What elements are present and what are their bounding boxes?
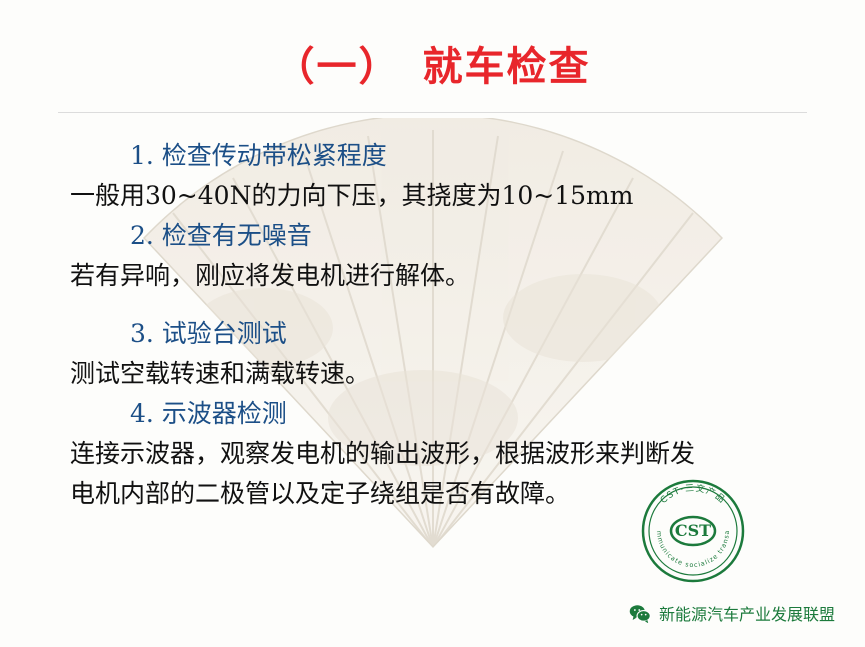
list-item-heading-3: 3. 试验台测试 <box>130 314 819 354</box>
slide-body: 1. 检查传动带松紧程度 一般用30~40N的力向下压，其挠度为10~15mm … <box>70 136 819 514</box>
list-item-text-2: 若有异响，刚应将发电机进行解体。 <box>70 256 819 296</box>
list-item-heading-1: 1. 检查传动带松紧程度 <box>130 136 819 176</box>
list-item-text-3: 测试空载转速和满载转速。 <box>70 354 819 394</box>
footer-label: 新能源汽车产业发展联盟 <box>659 601 835 625</box>
cst-logo: CST·三交产品 communicate socialize transact … <box>639 477 747 585</box>
list-item-heading-2: 2. 检查有无噪音 <box>130 216 819 256</box>
footer-account: 新能源汽车产业发展联盟 <box>629 601 835 625</box>
list-item-heading-4: 4. 示波器检测 <box>130 394 819 434</box>
svg-text:CST: CST <box>675 521 711 540</box>
page-title: （一） 就车检查 <box>0 34 865 92</box>
list-item-text-1: 一般用30~40N的力向下压，其挠度为10~15mm <box>70 176 819 216</box>
body-spacer <box>70 296 819 314</box>
wechat-icon <box>629 604 651 623</box>
slide: （一） 就车检查 1. 检查传动带松紧程度 一般用30~40N的力向下压，其挠度… <box>0 0 865 647</box>
title-divider <box>58 112 807 113</box>
